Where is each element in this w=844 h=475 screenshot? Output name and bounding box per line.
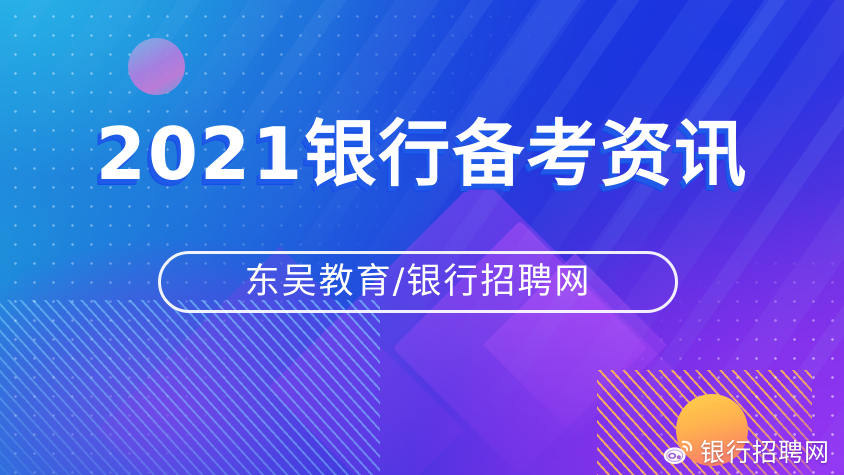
purple-circle-decoration <box>128 38 185 95</box>
subtitle-pill: 东吴教育/银行招聘网 <box>158 251 678 313</box>
promo-banner: 2021银行备考资讯 东吴教育/银行招聘网 银行招聘网 <box>0 0 844 475</box>
watermark-label: 银行招聘网 <box>700 440 830 465</box>
watermark: 银行招聘网 <box>663 439 830 465</box>
subtitle-label: 东吴教育/银行招聘网 <box>245 265 592 300</box>
page-title: 2021银行备考资讯 <box>96 118 748 190</box>
title-block: 2021银行备考资讯 <box>0 118 844 190</box>
weibo-icon <box>663 439 693 465</box>
